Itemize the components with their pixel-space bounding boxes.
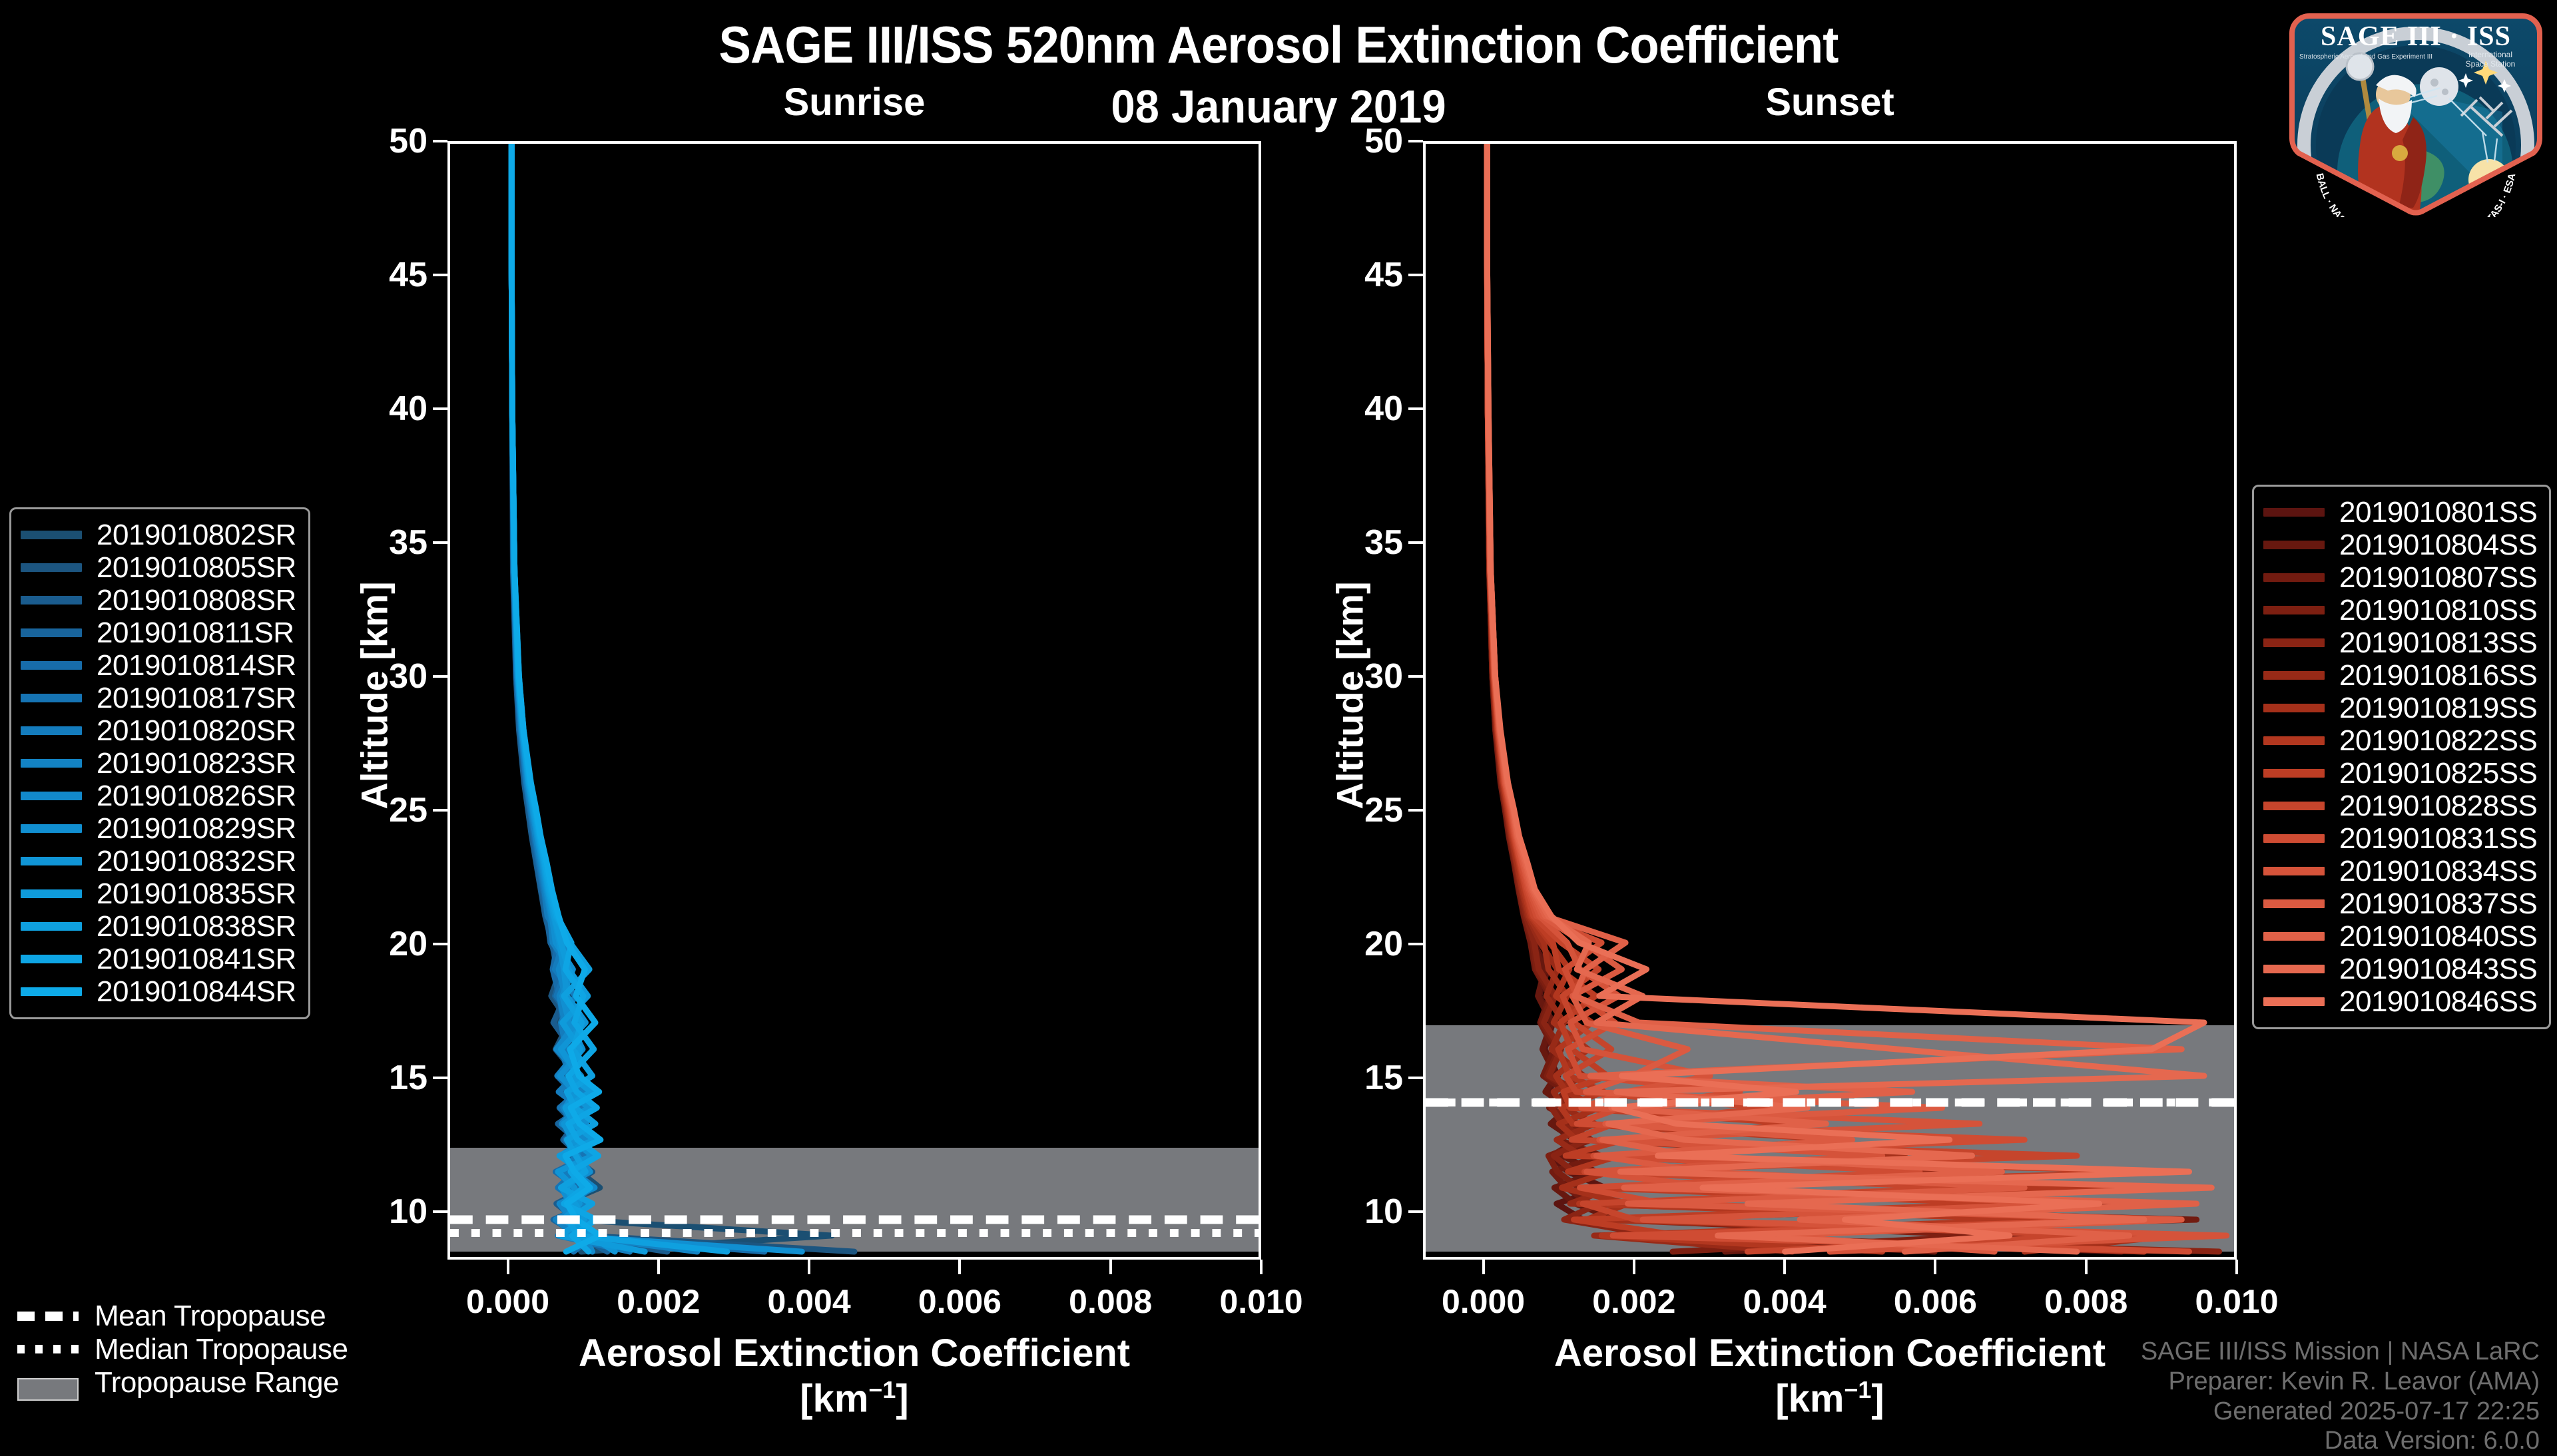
x-axis-tick-mark bbox=[1633, 1260, 1635, 1274]
sunset-plot-area bbox=[1423, 141, 2237, 1260]
y-axis-tick-label: 40 bbox=[348, 389, 427, 429]
legend-item[interactable]: 2019010823SR bbox=[21, 747, 296, 780]
legend-series-label: 2019010835SR bbox=[97, 877, 296, 911]
y-axis-tick-label: 50 bbox=[348, 121, 427, 161]
legend-color-swatch bbox=[21, 922, 82, 931]
legend-item[interactable]: 2019010834SS bbox=[2263, 855, 2537, 887]
legend-item[interactable]: 2019010829SR bbox=[21, 812, 296, 845]
sunrise-legend[interactable]: 2019010802SR2019010805SR2019010808SR2019… bbox=[9, 507, 310, 1019]
legend-color-swatch bbox=[2263, 769, 2325, 778]
band-swatch-icon bbox=[17, 1378, 79, 1387]
legend-series-label: 2019010817SR bbox=[97, 682, 296, 715]
legend-color-swatch bbox=[2263, 671, 2325, 680]
profile-line bbox=[511, 144, 697, 1252]
legend-median-tropopause: Median Tropopause bbox=[17, 1333, 348, 1366]
legend-item[interactable]: 2019010805SR bbox=[21, 551, 296, 584]
right-panel-title: Sunset bbox=[1423, 80, 2237, 124]
x-axis-title: Aerosol Extinction Coefficient[km−1] bbox=[447, 1332, 1261, 1421]
legend-tropopause-range: Tropopause Range bbox=[17, 1366, 348, 1399]
x-axis-tick-label: 0.000 bbox=[1442, 1282, 1525, 1321]
y-axis-tick-label: 10 bbox=[348, 1192, 427, 1232]
credit-line: Data Version: 6.0.0 bbox=[1940, 1426, 2540, 1456]
legend-series-label: 2019010837SS bbox=[2339, 887, 2537, 921]
legend-series-label: 2019010831SS bbox=[2339, 822, 2537, 855]
profile-line bbox=[511, 144, 764, 1252]
legend-series-label: 2019010823SR bbox=[97, 747, 296, 780]
legend-color-swatch bbox=[21, 889, 82, 898]
patch-subtitle-right: Space Station bbox=[2466, 59, 2516, 69]
legend-item[interactable]: 2019010811SR bbox=[21, 616, 296, 649]
legend-series-label: 2019010826SR bbox=[97, 780, 296, 813]
y-axis-tick-mark bbox=[433, 1210, 447, 1213]
y-axis-tick-mark bbox=[1408, 809, 1423, 812]
legend-color-swatch bbox=[2263, 736, 2325, 745]
legend-item[interactable]: 2019010820SR bbox=[21, 714, 296, 747]
legend-series-label: 2019010811SR bbox=[97, 616, 294, 650]
tropopause-range-label: Tropopause Range bbox=[95, 1366, 339, 1399]
belt-buckle bbox=[2392, 145, 2408, 161]
legend-color-swatch bbox=[2263, 834, 2325, 843]
legend-item[interactable]: 2019010816SS bbox=[2263, 659, 2537, 692]
y-axis-tick-mark bbox=[433, 1077, 447, 1079]
y-axis-tick-label: 50 bbox=[1323, 121, 1403, 161]
legend-item[interactable]: 2019010802SR bbox=[21, 519, 296, 551]
legend-series-label: 2019010802SR bbox=[97, 519, 296, 552]
legend-color-swatch bbox=[2263, 867, 2325, 875]
y-axis-tick-mark bbox=[433, 675, 447, 678]
x-axis-tick-mark bbox=[958, 1260, 961, 1274]
x-axis-tick-mark bbox=[808, 1260, 810, 1274]
x-axis-tick-mark bbox=[2235, 1260, 2238, 1274]
legend-series-label: 2019010807SS bbox=[2339, 561, 2537, 595]
y-axis-tick-mark bbox=[1408, 1210, 1423, 1213]
y-axis-tick-label: 20 bbox=[1323, 924, 1403, 964]
credit-line: Generated 2025-07-17 22:25 bbox=[1940, 1397, 2540, 1427]
x-axis-tick-mark bbox=[1482, 1260, 1485, 1274]
legend-color-swatch bbox=[21, 596, 82, 605]
legend-color-swatch bbox=[2263, 932, 2325, 941]
y-axis-title: Altitude [km] bbox=[353, 549, 396, 842]
y-axis-tick-label: 20 bbox=[348, 924, 427, 964]
credit-line: Preparer: Kevin R. Leavor (AMA) bbox=[1940, 1367, 2540, 1397]
legend-series-label: 2019010832SR bbox=[97, 845, 296, 878]
legend-item[interactable]: 2019010819SS bbox=[2263, 692, 2537, 724]
legend-color-swatch bbox=[2263, 704, 2325, 712]
patch-subtitle-right: International bbox=[2468, 50, 2512, 59]
x-axis-tick-label: 0.010 bbox=[1219, 1282, 1302, 1321]
legend-series-label: 2019010838SR bbox=[97, 910, 296, 943]
legend-series-label: 2019010843SS bbox=[2339, 953, 2537, 986]
profile-line bbox=[511, 144, 601, 1252]
legend-item[interactable]: 2019010832SR bbox=[21, 845, 296, 877]
y-axis-tick-mark bbox=[433, 140, 447, 142]
legend-series-label: 2019010804SS bbox=[2339, 529, 2537, 562]
legend-series-label: 2019010844SR bbox=[97, 975, 296, 1009]
legend-series-label: 2019010822SS bbox=[2339, 724, 2537, 758]
dotted-line-icon bbox=[17, 1345, 79, 1354]
legend-series-label: 2019010819SS bbox=[2339, 692, 2537, 725]
legend-item[interactable]: 2019010810SS bbox=[2263, 594, 2537, 626]
moon-icon bbox=[2420, 67, 2458, 106]
legend-item[interactable]: 2019010841SR bbox=[21, 943, 296, 975]
y-axis-tick-mark bbox=[433, 809, 447, 812]
legend-series-label: 2019010825SS bbox=[2339, 757, 2537, 790]
legend-color-swatch bbox=[21, 955, 82, 963]
legend-item[interactable]: 2019010822SS bbox=[2263, 724, 2537, 757]
profile-line bbox=[511, 144, 832, 1252]
x-axis-tick-mark bbox=[657, 1260, 660, 1274]
x-axis-tick-mark bbox=[2085, 1260, 2088, 1274]
legend-item[interactable]: 2019010804SS bbox=[2263, 529, 2537, 561]
legend-series-label: 2019010846SS bbox=[2339, 985, 2537, 1019]
sunset-legend[interactable]: 2019010801SS2019010804SS2019010807SS2019… bbox=[2252, 485, 2551, 1029]
patch-subtitle-left: Stratospheric Aerosol and Gas Experiment… bbox=[2299, 53, 2432, 61]
legend-series-label: 2019010813SS bbox=[2339, 626, 2537, 660]
y-axis-tick-mark bbox=[433, 943, 447, 945]
legend-color-swatch bbox=[2263, 965, 2325, 973]
legend-color-swatch bbox=[2263, 541, 2325, 549]
legend-series-label: 2019010816SS bbox=[2339, 659, 2537, 692]
legend-item[interactable]: 2019010846SS bbox=[2263, 985, 2537, 1018]
legend-item[interactable]: 2019010808SR bbox=[21, 584, 296, 616]
legend-color-swatch bbox=[21, 987, 82, 996]
y-axis-tick-mark bbox=[1408, 541, 1423, 544]
profile-line bbox=[511, 144, 802, 1252]
legend-color-swatch bbox=[21, 857, 82, 865]
x-axis-tick-mark bbox=[1260, 1260, 1263, 1274]
legend-series-label: 2019010828SS bbox=[2339, 790, 2537, 823]
legend-color-swatch bbox=[21, 792, 82, 800]
legend-color-swatch bbox=[21, 726, 82, 735]
legend-color-swatch bbox=[2263, 997, 2325, 1006]
legend-color-swatch bbox=[21, 824, 82, 833]
x-axis-unit: [km−1] bbox=[447, 1376, 1261, 1421]
legend-series-label: 2019010820SR bbox=[97, 714, 296, 748]
legend-color-swatch bbox=[2263, 606, 2325, 614]
x-axis-tick-mark bbox=[1783, 1260, 1786, 1274]
legend-series-label: 2019010841SR bbox=[97, 943, 296, 976]
y-axis-tick-mark bbox=[1408, 675, 1423, 678]
y-axis-tick-mark bbox=[433, 274, 447, 276]
legend-color-swatch bbox=[21, 563, 82, 572]
legend-item[interactable]: 2019010813SS bbox=[2263, 626, 2537, 659]
legend-item[interactable]: 2019010835SR bbox=[21, 877, 296, 910]
legend-item[interactable]: 2019010826SR bbox=[21, 780, 296, 812]
legend-item[interactable]: 2019010817SR bbox=[21, 682, 296, 714]
y-axis-tick-label: 15 bbox=[1323, 1058, 1403, 1098]
legend-item[interactable]: 2019010801SS bbox=[2263, 496, 2537, 529]
legend-item[interactable]: 2019010837SS bbox=[2263, 887, 2537, 920]
x-axis-tick-label: 0.004 bbox=[1743, 1282, 1827, 1321]
sage-iii-iss-mission-patch-logo: SAGE III · ISS Stratospheric Aerosol and… bbox=[2283, 5, 2549, 217]
mean-tropopause-label: Mean Tropopause bbox=[95, 1300, 326, 1333]
y-axis-tick-label: 45 bbox=[348, 255, 427, 295]
x-axis-tick-mark bbox=[507, 1260, 509, 1274]
y-axis-tick-mark bbox=[433, 541, 447, 544]
legend-series-label: 2019010810SS bbox=[2339, 594, 2537, 627]
credit-line: SAGE III/ISS Mission | NASA LaRC bbox=[1940, 1337, 2540, 1367]
y-axis-tick-label: 45 bbox=[1323, 255, 1403, 295]
legend-color-swatch bbox=[21, 759, 82, 768]
legend-series-label: 2019010840SS bbox=[2339, 920, 2537, 953]
x-axis-tick-label: 0.010 bbox=[2195, 1282, 2278, 1321]
legend-series-label: 2019010805SR bbox=[97, 551, 296, 585]
legend-series-label: 2019010829SR bbox=[97, 812, 296, 846]
legend-item[interactable]: 2019010838SR bbox=[21, 910, 296, 943]
tropopause-legend: Mean Tropopause Median Tropopause Tropop… bbox=[17, 1300, 348, 1399]
legend-color-swatch bbox=[21, 661, 82, 670]
x-axis-tick-label: 0.008 bbox=[1069, 1282, 1152, 1321]
y-axis-tick-mark bbox=[1408, 274, 1423, 276]
legend-item[interactable]: 2019010828SS bbox=[2263, 790, 2537, 822]
legend-item[interactable]: 2019010840SS bbox=[2263, 920, 2537, 953]
legend-color-swatch bbox=[2263, 802, 2325, 810]
legend-color-swatch bbox=[21, 628, 82, 637]
x-axis-tick-label: 0.004 bbox=[768, 1282, 851, 1321]
legend-series-label: 2019010814SR bbox=[97, 649, 296, 682]
legend-item[interactable]: 2019010843SS bbox=[2263, 953, 2537, 985]
legend-series-label: 2019010801SS bbox=[2339, 496, 2537, 529]
dashed-line-icon bbox=[17, 1312, 79, 1321]
x-axis-tick-mark bbox=[1934, 1260, 1936, 1274]
legend-series-label: 2019010834SS bbox=[2339, 855, 2537, 888]
legend-color-swatch bbox=[2263, 638, 2325, 647]
y-axis-tick-label: 10 bbox=[1323, 1192, 1403, 1232]
x-axis-tick-label: 0.006 bbox=[918, 1282, 1001, 1321]
legend-mean-tropopause: Mean Tropopause bbox=[17, 1300, 348, 1333]
legend-color-swatch bbox=[21, 531, 82, 539]
credits-block: SAGE III/ISS Mission | NASA LaRCPreparer… bbox=[1940, 1337, 2540, 1456]
legend-color-swatch bbox=[2263, 899, 2325, 908]
legend-color-swatch bbox=[21, 694, 82, 702]
y-axis-tick-mark bbox=[433, 407, 447, 410]
legend-item[interactable]: 2019010807SS bbox=[2263, 561, 2537, 594]
legend-item[interactable]: 2019010814SR bbox=[21, 649, 296, 682]
x-axis-tick-label: 0.008 bbox=[2044, 1282, 2128, 1321]
y-axis-tick-mark bbox=[1408, 140, 1423, 142]
profile-line bbox=[511, 144, 727, 1252]
legend-item[interactable]: 2019010831SS bbox=[2263, 822, 2537, 855]
y-axis-tick-label: 40 bbox=[1323, 389, 1403, 429]
x-axis-tick-label: 0.002 bbox=[1592, 1282, 1675, 1321]
y-axis-tick-mark bbox=[1408, 943, 1423, 945]
y-axis-tick-mark bbox=[1408, 407, 1423, 410]
y-axis-tick-label: 15 bbox=[348, 1058, 427, 1098]
patch-title: SAGE III · ISS bbox=[2321, 21, 2511, 52]
legend-color-swatch bbox=[2263, 508, 2325, 517]
y-axis-tick-mark bbox=[1408, 1077, 1423, 1079]
page-title: SAGE III/ISS 520nm Aerosol Extinction Co… bbox=[89, 15, 2467, 75]
legend-item[interactable]: 2019010844SR bbox=[21, 975, 296, 1008]
legend-color-swatch bbox=[2263, 573, 2325, 582]
x-axis-tick-label: 0.006 bbox=[1894, 1282, 1977, 1321]
x-axis-tick-mark bbox=[1109, 1260, 1112, 1274]
left-panel-title: Sunrise bbox=[447, 80, 1261, 124]
x-axis-tick-label: 0.002 bbox=[617, 1282, 700, 1321]
x-axis-tick-label: 0.000 bbox=[466, 1282, 549, 1321]
legend-series-label: 2019010808SR bbox=[97, 584, 296, 617]
legend-item[interactable]: 2019010825SS bbox=[2263, 757, 2537, 790]
y-axis-title: Altitude [km] bbox=[1328, 549, 1372, 842]
sunrise-plot-area bbox=[447, 141, 1261, 1260]
median-tropopause-label: Median Tropopause bbox=[95, 1333, 348, 1366]
